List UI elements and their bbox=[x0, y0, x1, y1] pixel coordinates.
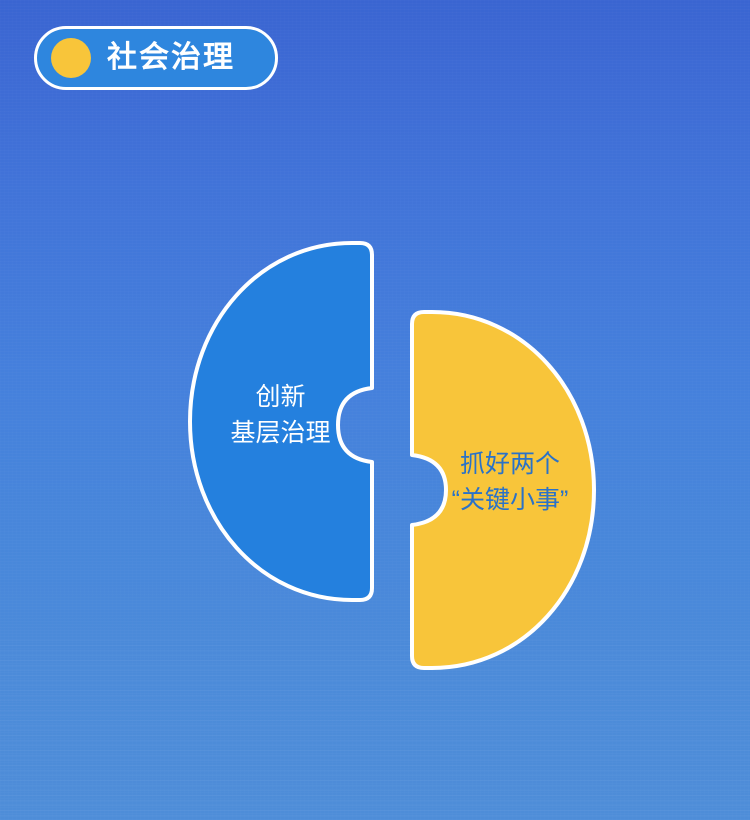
diagram-stage: 创新 基层治理 抓好两个 “关键小事” bbox=[0, 0, 750, 820]
left-shape-label-line-2: 基层治理 bbox=[198, 416, 363, 452]
poster-canvas: 社会治理 创新 基层治理 抓好两个 “关键小事” bbox=[0, 0, 750, 820]
right-shape-label: 抓好两个 “关键小事” bbox=[425, 447, 595, 518]
left-shape-label: 创新 基层治理 bbox=[198, 380, 363, 451]
right-shape-label-line-1: 抓好两个 bbox=[425, 447, 595, 483]
left-shape-label-line-1: 创新 bbox=[198, 380, 363, 416]
right-shape-label-line-2: “关键小事” bbox=[425, 483, 595, 519]
